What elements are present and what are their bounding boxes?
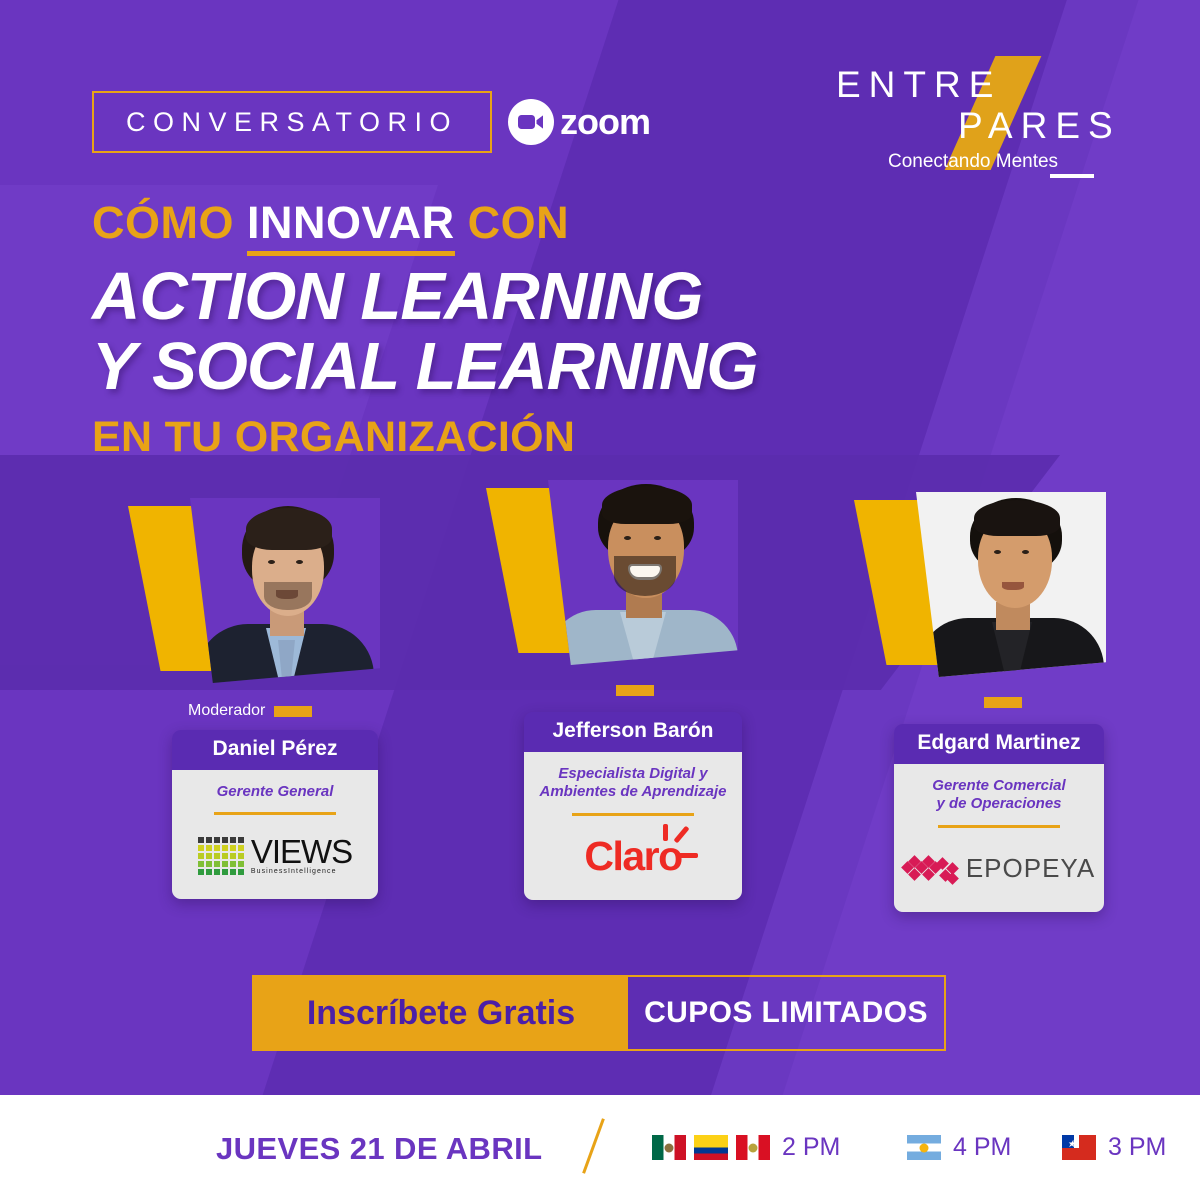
flag-colombia-icon xyxy=(694,1135,728,1160)
footer-bar: JUEVES 21 DE ABRIL 2 PM 4 PM ★ 3 PM xyxy=(0,1095,1200,1200)
views-logo: VIEWS BusinessIntelligence xyxy=(182,829,368,883)
speaker-details: Gerente General VIEWS BusinessIntelligen… xyxy=(172,770,378,899)
views-subtitle: BusinessIntelligence xyxy=(251,868,337,875)
speaker-card-jefferson-baron: Jefferson Barón Especialista Digital y A… xyxy=(468,480,798,680)
speaker-name: Edgard Martinez xyxy=(894,724,1104,764)
timezone-group-1: 2 PM xyxy=(652,1133,840,1162)
speaker-info-card: Edgard Martinez Gerente Comercial y de O… xyxy=(894,724,1104,912)
views-wordmark: VIEWS xyxy=(251,837,352,867)
cta-bar[interactable]: Inscríbete Gratis CUPOS LIMITADOS xyxy=(252,975,946,1051)
speaker-role: Especialista Digital y Ambientes de Apre… xyxy=(534,765,732,802)
speaker-card-edgard-martinez: Edgard Martinez Gerente Comercial y de O… xyxy=(836,492,1166,692)
zoom-logo: zoom xyxy=(508,99,650,145)
claro-logo: Claro xyxy=(534,830,732,884)
speaker-name: Jefferson Barón xyxy=(524,712,742,752)
card-divider xyxy=(572,813,694,816)
timezone-time-2: 4 PM xyxy=(953,1133,1011,1162)
speaker-details: Especialista Digital y Ambientes de Apre… xyxy=(524,752,742,900)
speaker-card-daniel-perez: Moderador Daniel Pérez Gerente General V… xyxy=(110,498,440,698)
speaker-photo-zone xyxy=(110,498,440,698)
speaker-portrait xyxy=(548,480,738,665)
logo-tagline: Conectando Mentes xyxy=(888,151,1058,173)
headline-line-1: CÓMO INNOVAR CON xyxy=(92,200,852,246)
headline-line-4: EN TU ORGANIZACIÓN xyxy=(92,413,852,462)
flag-argentina-icon xyxy=(907,1135,941,1160)
speaker-details: Gerente Comercial y de Operaciones EPOPE… xyxy=(894,764,1104,912)
video-camera-icon xyxy=(508,99,554,145)
badge-label: CONVERSATORIO xyxy=(126,107,458,138)
moderator-label: Moderador xyxy=(188,702,265,720)
limited-seats-label: CUPOS LIMITADOS xyxy=(628,977,944,1049)
speaker-info-card: Jefferson Barón Especialista Digital y A… xyxy=(524,712,742,900)
views-dot-grid xyxy=(198,837,244,875)
speaker-portrait xyxy=(190,498,380,683)
headline-innovar: INNOVAR xyxy=(247,197,455,256)
flag-peru-icon xyxy=(736,1135,770,1160)
speaker-photo-zone xyxy=(468,480,798,680)
headline-block: CÓMO INNOVAR CON ACTION LEARNING Y SOCIA… xyxy=(92,200,852,462)
speaker-role: Gerente Comercial y de Operaciones xyxy=(904,777,1094,814)
logo-tagline-underline xyxy=(1050,174,1094,178)
entre-pares-logo: ENTRE PARES Conectando Mentes xyxy=(818,58,1138,168)
gold-dash-accent xyxy=(274,706,312,717)
speaker-name: Daniel Pérez xyxy=(172,730,378,770)
headline-line-3: Y SOCIAL LEARNING xyxy=(92,332,852,402)
register-button[interactable]: Inscríbete Gratis xyxy=(254,977,628,1049)
speaker-role: Gerente General xyxy=(182,783,368,801)
flag-chile-icon: ★ xyxy=(1062,1135,1096,1160)
speaker-info-card: Daniel Pérez Gerente General VIEWS Busin… xyxy=(172,730,378,899)
gold-dash-accent xyxy=(984,697,1022,708)
epopeya-diamond-mark xyxy=(903,853,955,885)
headline-cómo: CÓMO xyxy=(92,197,247,248)
card-divider xyxy=(938,825,1060,828)
headline-con: CON xyxy=(455,197,570,248)
gold-dash-accent xyxy=(616,685,654,696)
epopeya-wordmark: EPOPEYA xyxy=(966,853,1095,884)
flag-mexico-icon xyxy=(652,1135,686,1160)
logo-line-pares: PARES xyxy=(958,105,1121,147)
headline-line-2: ACTION LEARNING xyxy=(92,262,852,332)
speaker-photo-zone xyxy=(836,492,1166,692)
zoom-wordmark: zoom xyxy=(560,101,650,143)
timezone-time-1: 2 PM xyxy=(782,1133,840,1162)
epopeya-logo: EPOPEYA xyxy=(904,842,1094,896)
timezone-group-2: 4 PM xyxy=(907,1133,1011,1162)
conversatorio-badge: CONVERSATORIO xyxy=(92,91,492,153)
card-divider xyxy=(214,812,336,815)
event-promo-poster: CONVERSATORIO zoom ENTRE PARES Conectand… xyxy=(0,0,1200,1200)
timezone-time-3: 3 PM xyxy=(1108,1133,1166,1162)
moderator-tag-row: Moderador xyxy=(188,702,312,720)
speaker-portrait xyxy=(916,492,1106,677)
footer-divider-slash xyxy=(582,1118,605,1174)
timezone-group-3: ★ 3 PM xyxy=(1062,1133,1166,1162)
logo-line-entre: ENTRE xyxy=(836,64,1001,106)
event-date: JUEVES 21 DE ABRIL xyxy=(216,1131,542,1167)
